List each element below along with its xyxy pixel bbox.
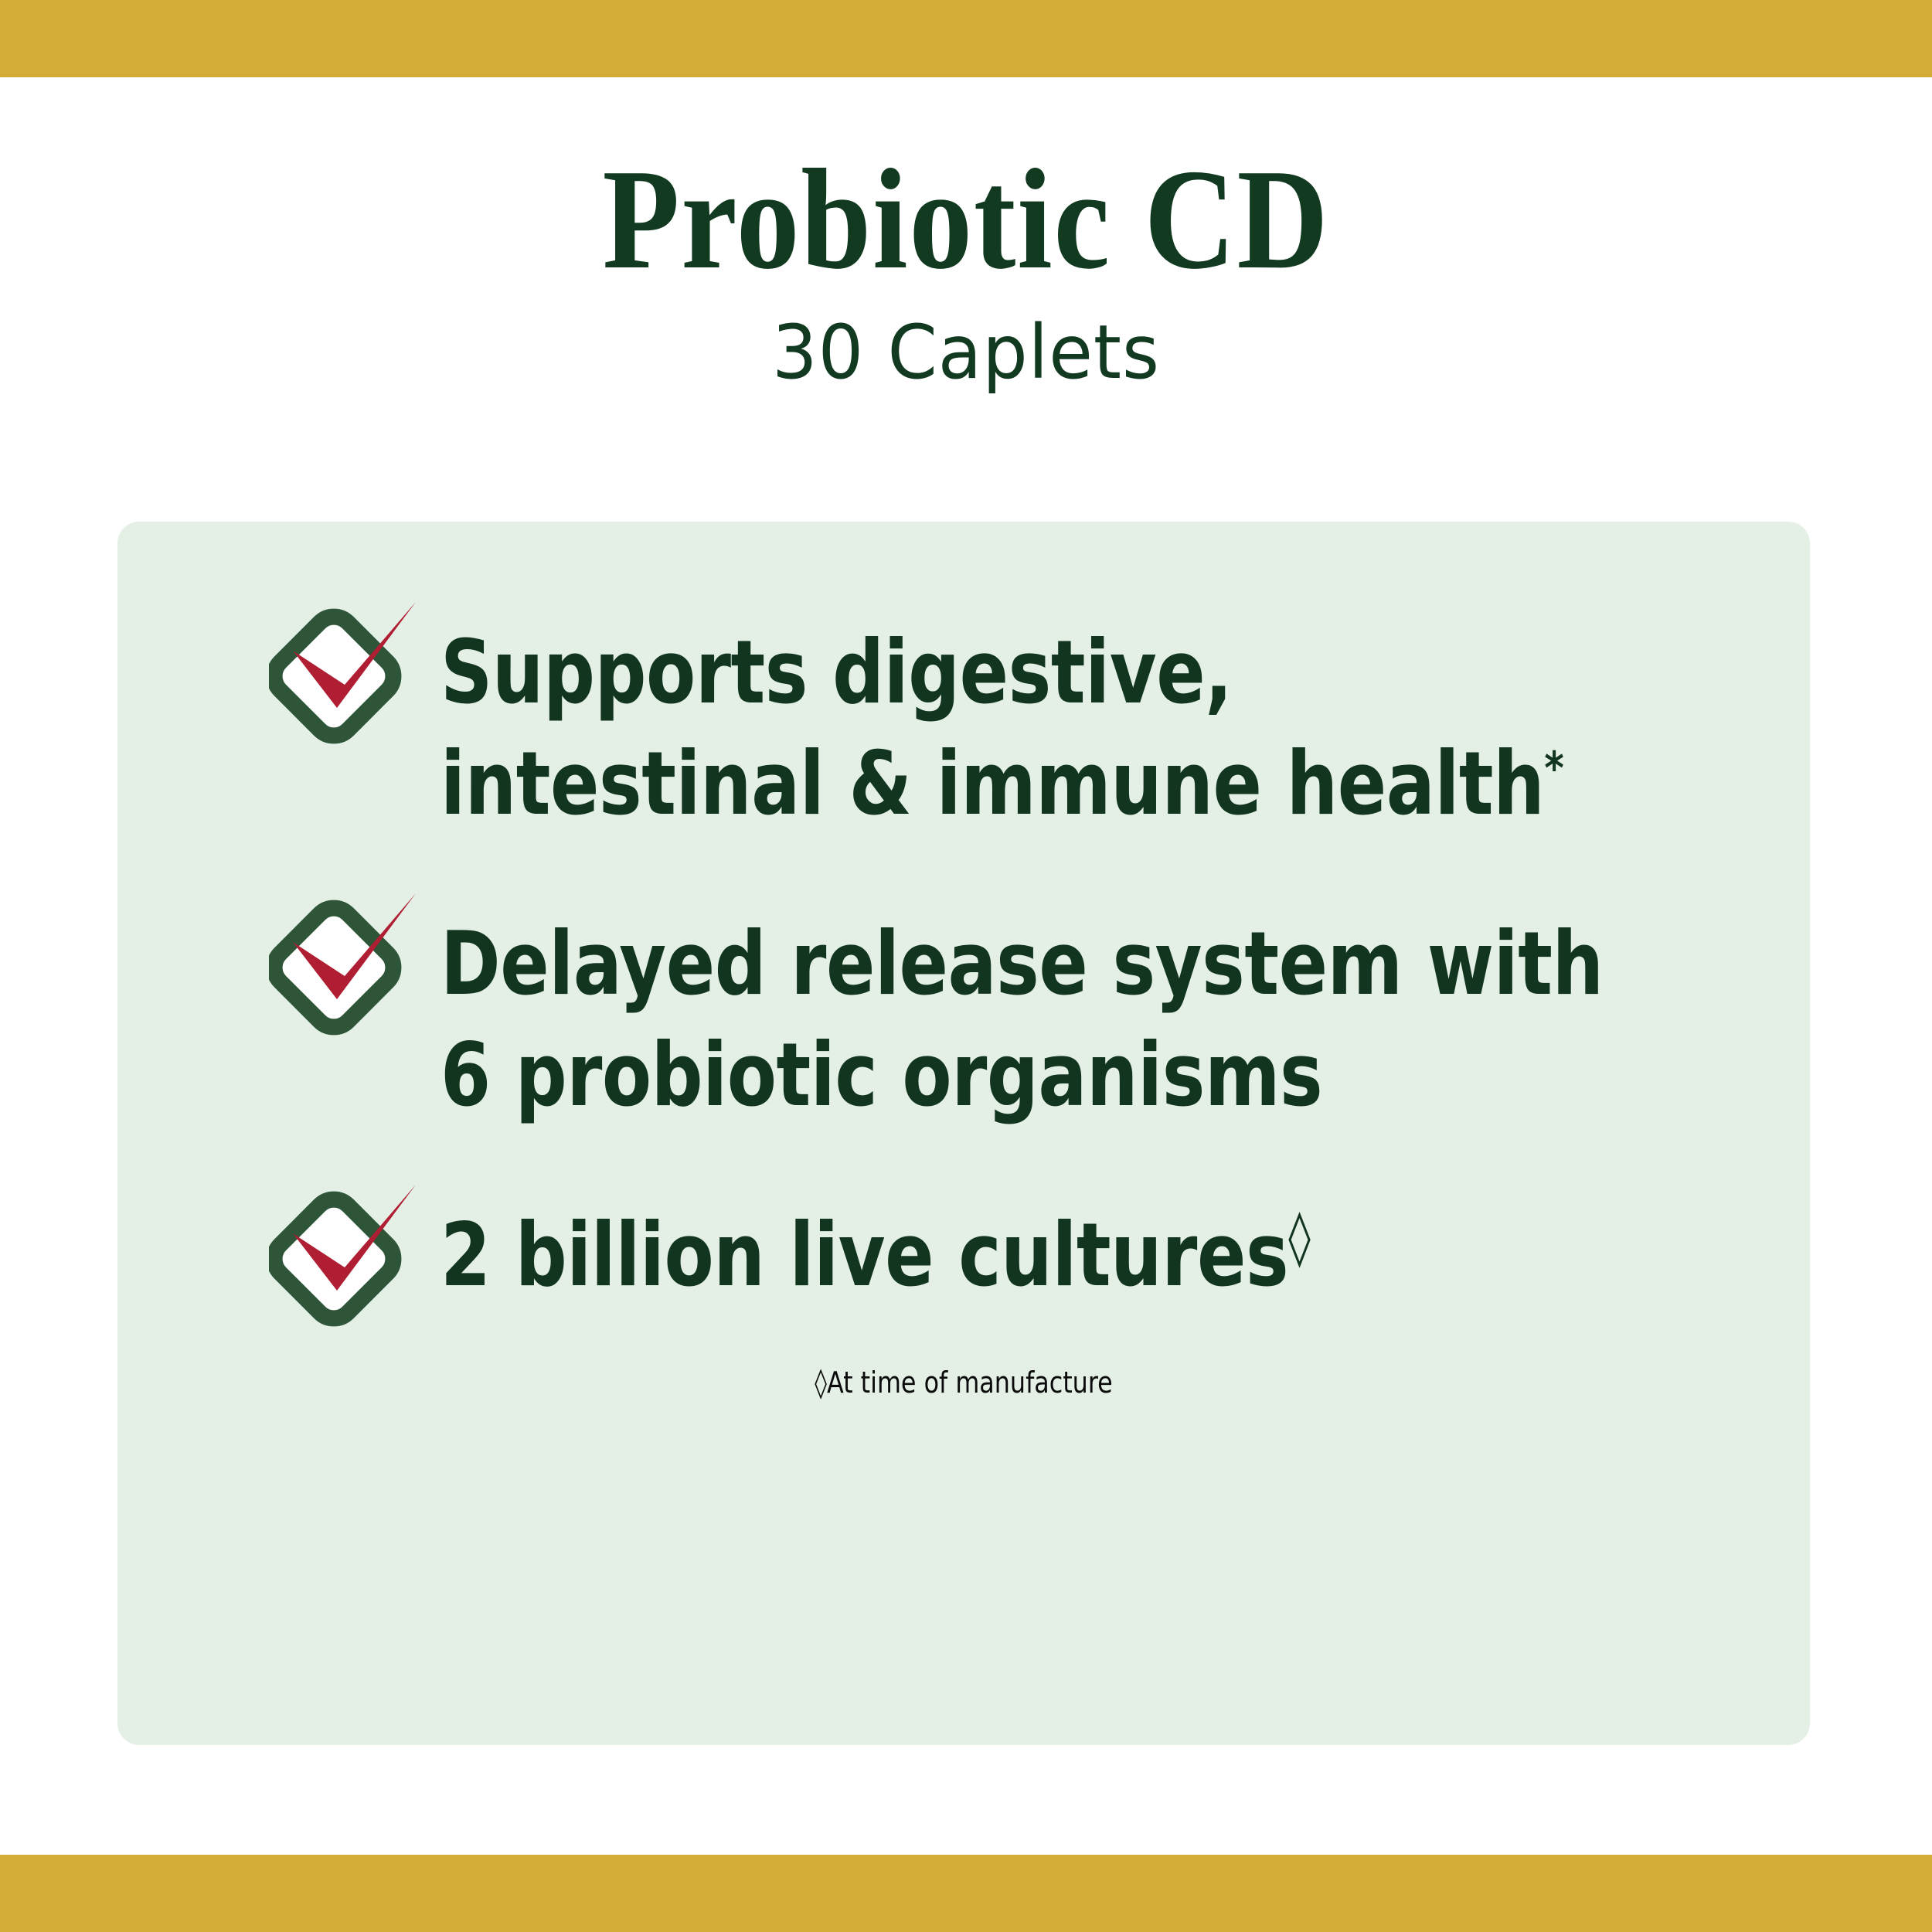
check-diamond-icon xyxy=(269,893,423,1040)
benefit-label: 2 billion live cultures◊ xyxy=(440,1196,1310,1311)
benefit-label: Delayed release system with 6 probiotic … xyxy=(440,904,1636,1131)
panel-footnote: ◊At time of manufacture xyxy=(241,1366,1685,1400)
page-title: Probiotic CD xyxy=(116,147,1816,294)
lozenge-marker: ◊ xyxy=(1288,1205,1310,1268)
bottom-gold-accent-bar xyxy=(0,1855,1932,1932)
footnote-marker: * xyxy=(1544,741,1563,794)
benefit-label: Supports digestive, intestinal & immune … xyxy=(440,613,1636,839)
list-item: Supports digestive, intestinal & immune … xyxy=(295,613,1740,839)
list-item: Delayed release system with 6 probiotic … xyxy=(295,904,1740,1131)
benefits-panel: Supports digestive, intestinal & immune … xyxy=(117,522,1810,1745)
top-gold-accent-bar xyxy=(0,0,1932,77)
check-diamond-icon xyxy=(269,1185,423,1332)
check-diamond-icon xyxy=(269,602,423,749)
benefit-list: Supports digestive, intestinal & immune … xyxy=(295,613,1740,1332)
list-item: 2 billion live cultures◊ xyxy=(295,1196,1740,1332)
product-header: Probiotic CD 30 Caplets xyxy=(0,147,1932,392)
product-count-subtitle: 30 Caplets xyxy=(39,314,1893,392)
